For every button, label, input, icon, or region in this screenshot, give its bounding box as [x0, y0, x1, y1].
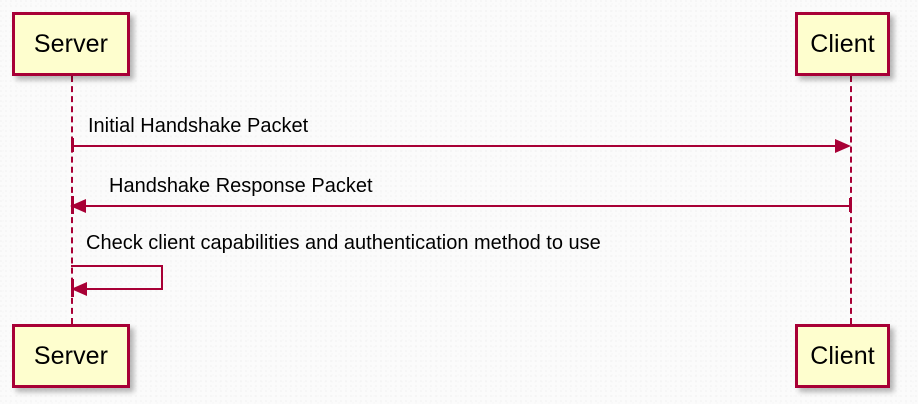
participant-client-bottom[interactable]: Client	[795, 324, 890, 388]
message-3-loop-right	[161, 265, 163, 288]
participant-server-bottom[interactable]: Server	[12, 324, 130, 388]
participant-server-top[interactable]: Server	[12, 12, 130, 76]
message-3-label: Check client capabilities and authentica…	[86, 233, 601, 253]
message-2-line[interactable]	[85, 205, 850, 207]
message-1-label: Initial Handshake Packet	[88, 116, 308, 136]
message-3-target-stub	[71, 279, 74, 297]
participant-client-bottom-label: Client	[810, 344, 875, 369]
message-1-arrowhead	[835, 139, 851, 153]
message-3-loop-top[interactable]	[71, 265, 163, 267]
message-2-label: Handshake Response Packet	[109, 176, 373, 196]
participant-client-top[interactable]: Client	[795, 12, 890, 76]
participant-server-top-label: Server	[34, 32, 108, 57]
participant-server-bottom-label: Server	[34, 344, 108, 369]
sequence-diagram-canvas: Server Client Initial Handshake Packet H…	[0, 0, 918, 404]
message-3-loop-bottom[interactable]	[86, 288, 163, 290]
participant-client-top-label: Client	[810, 32, 875, 57]
message-2-target-stub	[71, 196, 74, 214]
message-1-line[interactable]	[71, 145, 836, 147]
